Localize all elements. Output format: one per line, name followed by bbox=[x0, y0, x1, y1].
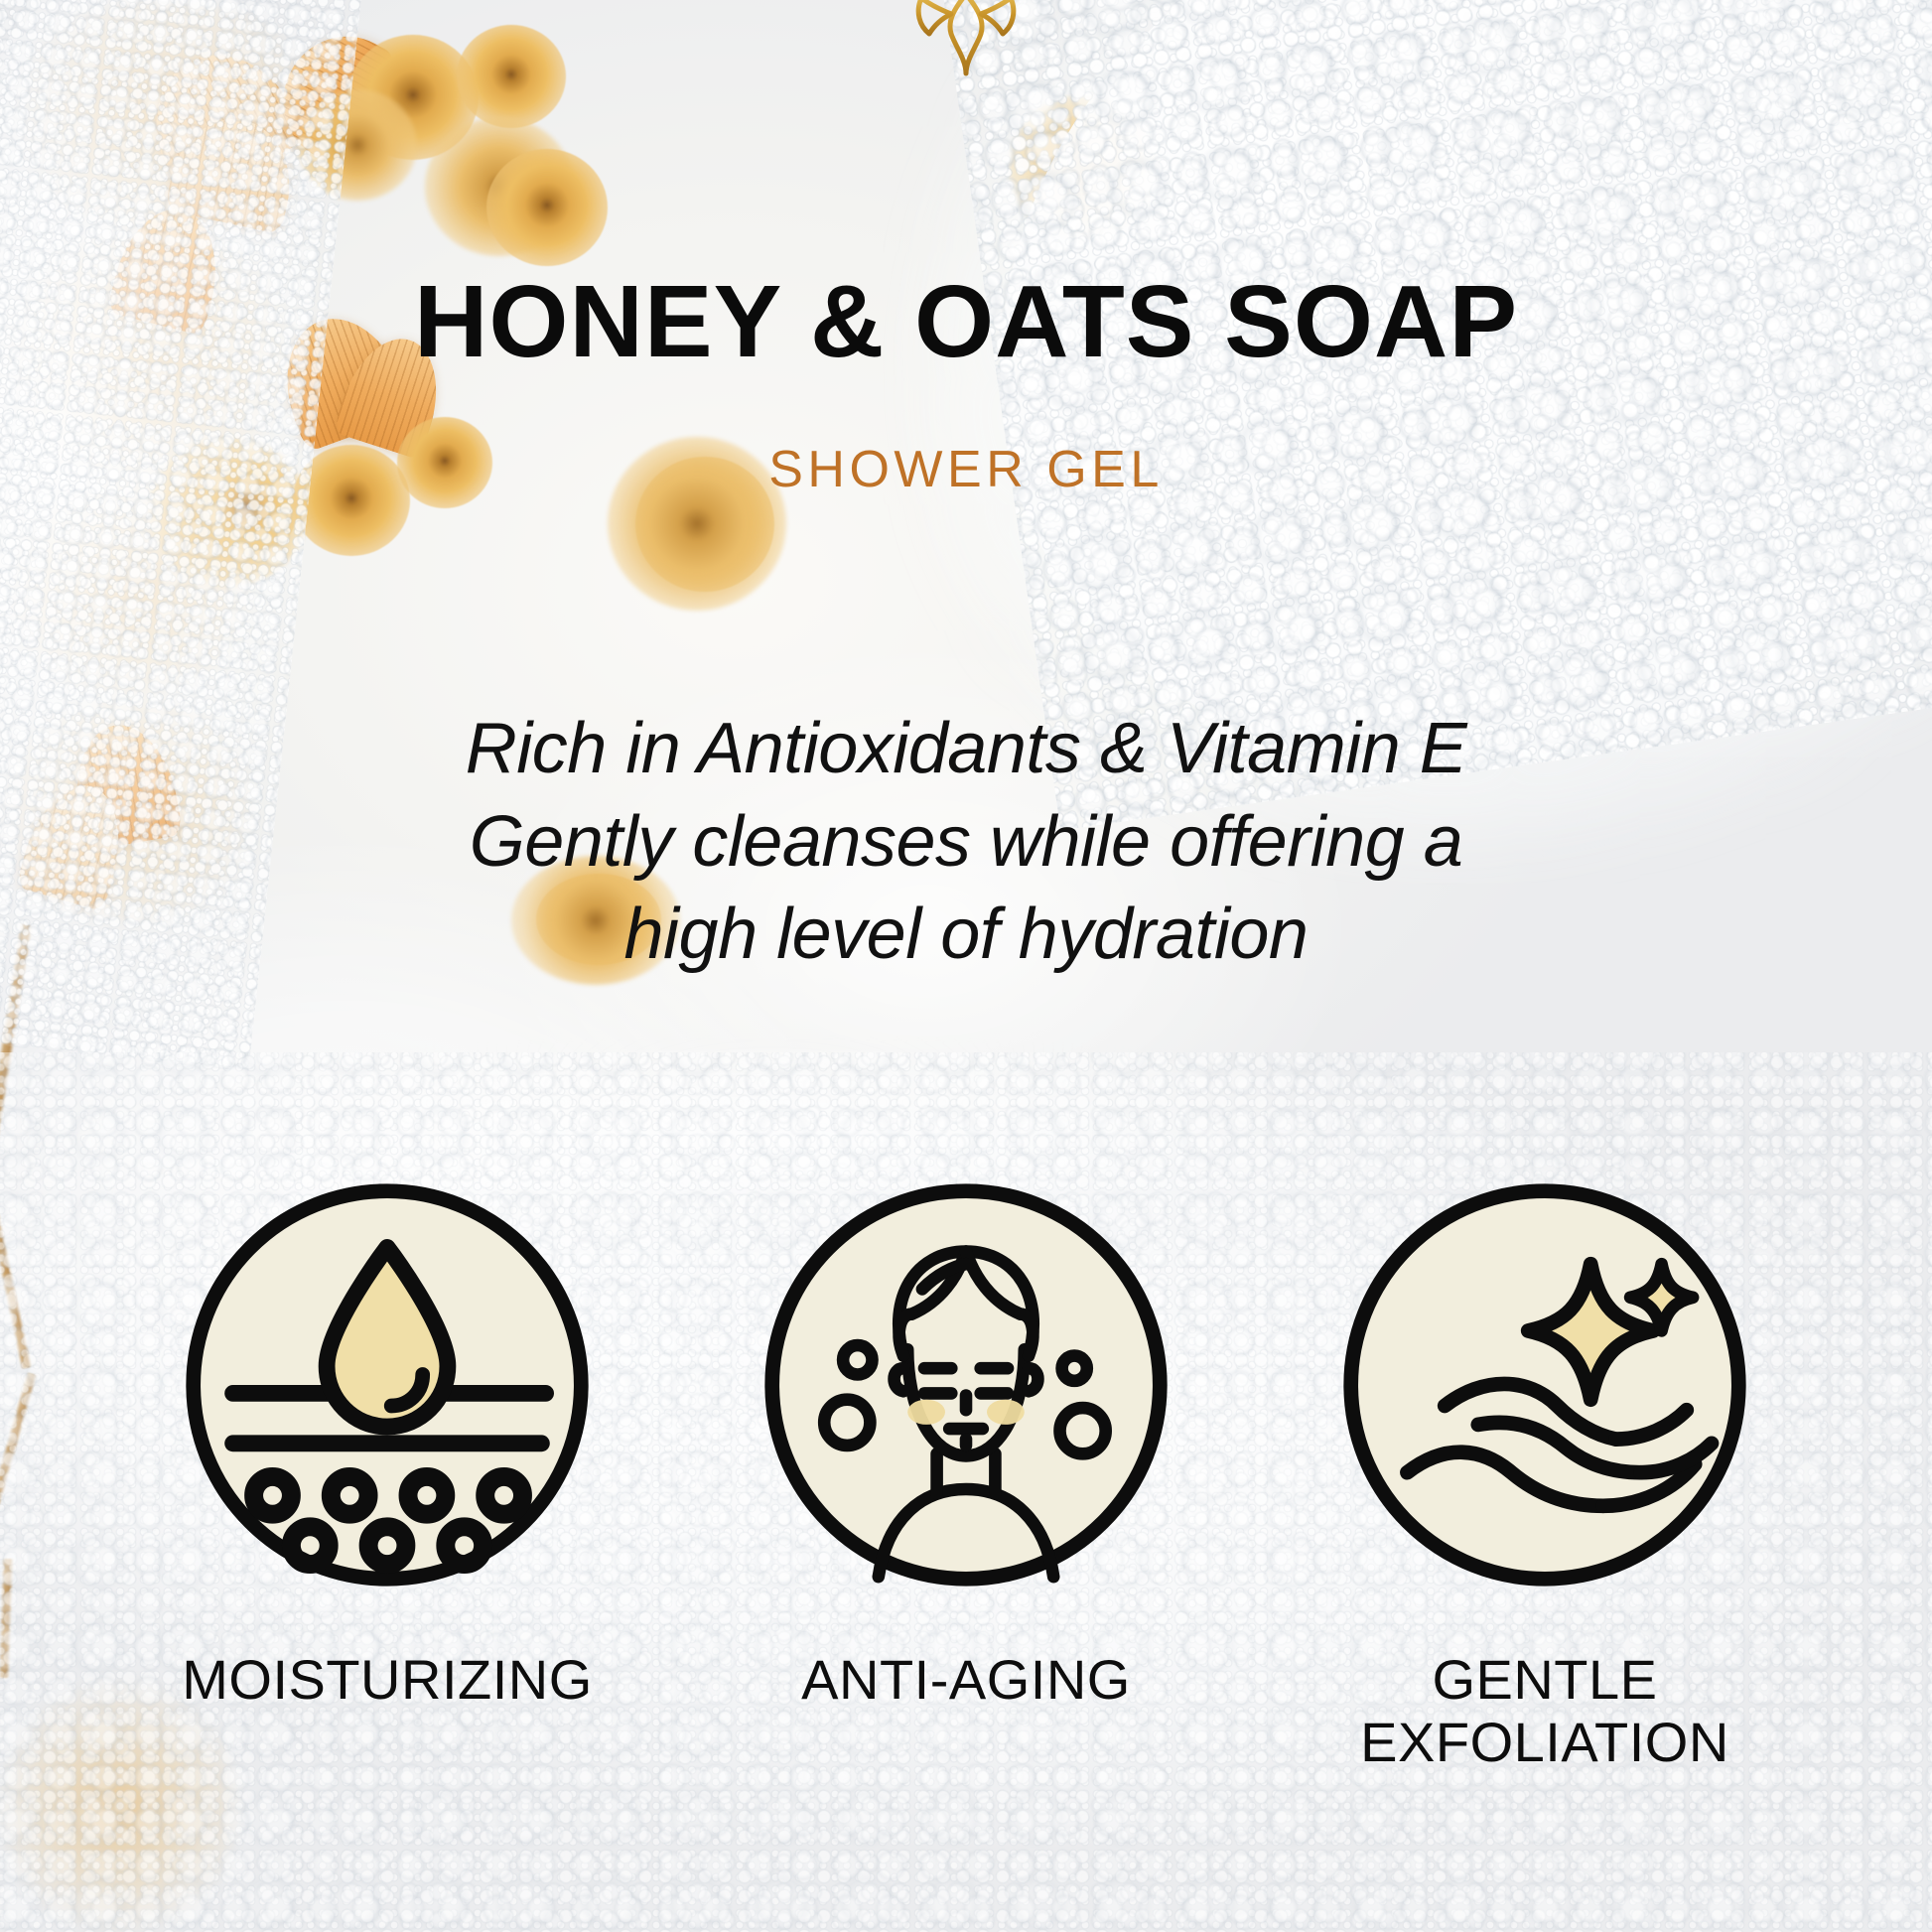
product-poster: HONEY & OATS SOAP SHOWER GEL Rich in Ant… bbox=[0, 0, 1932, 1932]
face-with-towel-bubbles-icon bbox=[758, 1176, 1174, 1593]
feature-label-moisturizing: MOISTURIZING bbox=[182, 1649, 593, 1712]
water-drop-skin-layers-icon bbox=[179, 1176, 596, 1593]
feature-anti-aging: ANTI-AGING bbox=[728, 1176, 1204, 1712]
gold-mandala-ornament bbox=[872, 0, 1060, 83]
feature-label-line: GENTLE bbox=[1360, 1649, 1729, 1712]
feature-label-line: MOISTURIZING bbox=[182, 1649, 593, 1712]
feature-gentle-exfoliation: GENTLE EXFOLIATION bbox=[1307, 1176, 1783, 1773]
feature-moisturizing: MOISTURIZING bbox=[149, 1176, 625, 1712]
feature-list: MOISTURIZING bbox=[149, 1176, 1783, 1773]
tagline-line-3: high level of hydration bbox=[0, 889, 1932, 982]
page-title: HONEY & OATS SOAP bbox=[0, 270, 1932, 372]
product-subtitle: SHOWER GEL bbox=[0, 444, 1932, 495]
feature-label-line: ANTI-AGING bbox=[801, 1649, 1131, 1712]
feature-label-anti-aging: ANTI-AGING bbox=[801, 1649, 1131, 1712]
tagline-line-2: Gently cleanses while offering a bbox=[0, 796, 1932, 890]
hand-with-sparkles-icon bbox=[1336, 1176, 1753, 1593]
feature-label-line: EXFOLIATION bbox=[1360, 1712, 1729, 1774]
tagline: Rich in Antioxidants & Vitamin E Gently … bbox=[0, 703, 1932, 982]
feature-label-gentle-exfoliation: GENTLE EXFOLIATION bbox=[1360, 1649, 1729, 1773]
tagline-line-1: Rich in Antioxidants & Vitamin E bbox=[0, 703, 1932, 796]
